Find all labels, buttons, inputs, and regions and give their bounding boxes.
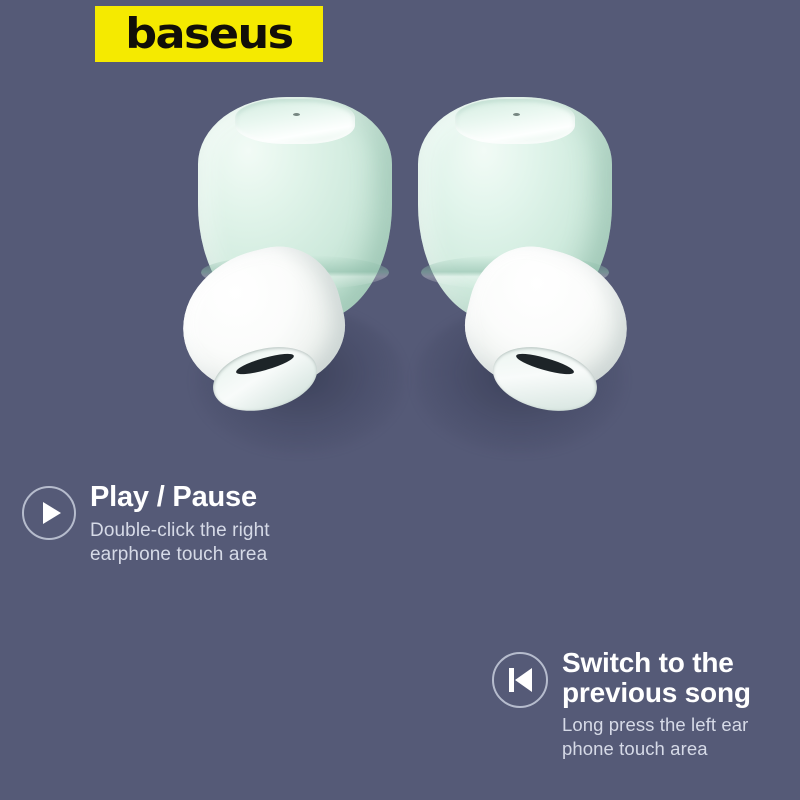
play-icon: [22, 486, 76, 540]
brand-logo: baseus: [95, 6, 323, 62]
feature-grid: Play / Pause Double-click the right earp…: [0, 468, 800, 800]
feature-title: Switch to the previous song: [562, 648, 751, 707]
earbud-touch-panel: [235, 99, 355, 145]
earbud-microphone-dot: [513, 113, 520, 116]
infographic-page: baseus: [0, 0, 800, 800]
feature-description: Double-click the right earphone touch ar…: [90, 519, 270, 567]
feature-play-pause: Play / Pause Double-click the right earp…: [0, 468, 468, 634]
brand-logo-text: baseus: [125, 13, 292, 55]
feature-description: Long press the left ear phone touch area: [562, 713, 751, 760]
earbud-touch-panel: [455, 99, 575, 145]
feature-title: Play / Pause: [90, 482, 270, 513]
product-hero-image: [0, 70, 800, 460]
previous-track-icon: [492, 652, 548, 708]
right-earbud: [400, 90, 630, 440]
feature-previous-song: Switch to the previous song Long press t…: [0, 634, 800, 800]
left-earbud: [180, 90, 410, 440]
earbud-microphone-dot: [293, 113, 300, 116]
